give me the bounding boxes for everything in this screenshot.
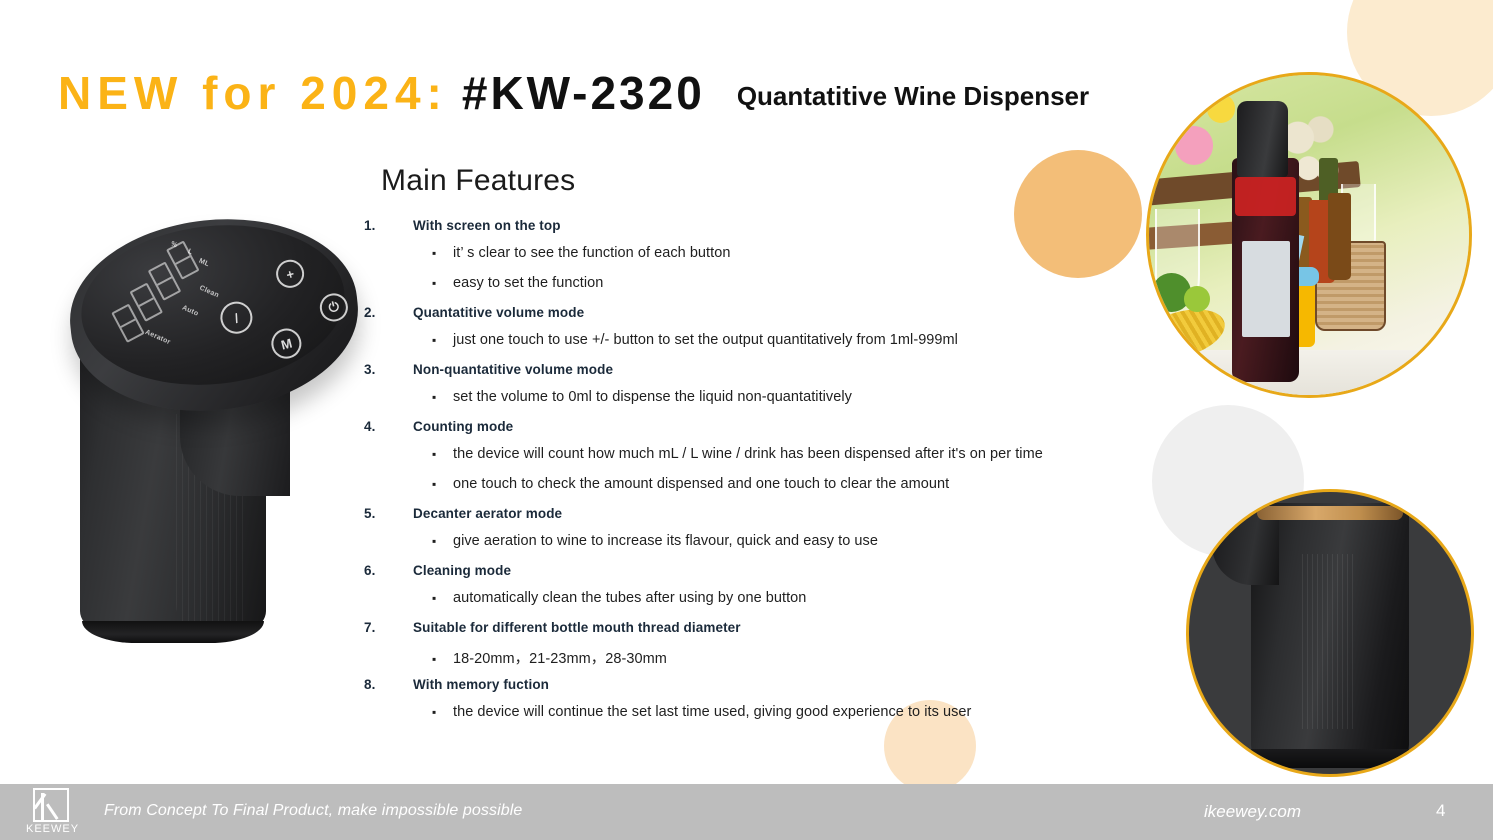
feature-bullet-text: one touch to check the amount dispensed … — [453, 476, 949, 492]
bullet-marker-icon: ▪ — [432, 334, 453, 346]
feature-bullet: ▪the device will count how much mL / L w… — [364, 446, 1164, 476]
feature-item: 6.Cleaning mode▪automatically clean the … — [364, 563, 1164, 620]
footer-tagline: From Concept To Final Product, make impo… — [104, 802, 522, 820]
lifestyle-photo-circle — [1146, 72, 1472, 398]
photo-pink-flower — [1175, 126, 1213, 164]
bullet-marker-icon: ▪ — [432, 247, 453, 259]
feature-item: 7.Suitable for different bottle mouth th… — [364, 620, 1164, 677]
photo-beer-bottle — [1328, 193, 1350, 279]
bullet-marker-icon: ▪ — [432, 391, 453, 403]
footer-page-number: 4 — [1436, 801, 1445, 821]
bullet-marker-icon: ▪ — [432, 592, 453, 604]
feature-number: 2. — [364, 305, 413, 320]
feature-title: With screen on the top — [413, 218, 561, 233]
feature-bullet-text: automatically clean the tubes after usin… — [453, 590, 806, 606]
feature-list: 1.With screen on the top▪it’ s clear to … — [364, 218, 1164, 734]
feature-bullet-text: give aeration to wine to increase its fl… — [453, 533, 878, 549]
feature-bullet-text: just one touch to use +/- button to set … — [453, 332, 958, 348]
photo-table-surface — [1149, 350, 1469, 395]
feature-item: 3.Non-quantatitive volume mode▪set the v… — [364, 362, 1164, 419]
feature-item: 1.With screen on the top▪it’ s clear to … — [364, 218, 1164, 305]
lcd-label-l: L — [187, 248, 194, 256]
bullet-marker-icon: ▪ — [432, 277, 453, 289]
feature-item: 4.Counting mode▪the device will count ho… — [364, 419, 1164, 506]
slide-canvas: NEW for 2024: #KW-2320 Quantatitive Wine… — [0, 0, 1493, 840]
feature-title: Decanter aerator mode — [413, 506, 562, 521]
device-memory-button[interactable]: M — [268, 325, 304, 361]
device-touch-panel: Aerator Auto Clean ML L % + ⏻ / M — [73, 213, 352, 398]
feature-title: Non-quantatitive volume mode — [413, 362, 613, 377]
feature-title: With memory fuction — [413, 677, 549, 692]
headline-model-number: #KW-2320 — [462, 70, 705, 116]
feature-bullet: ▪just one touch to use +/- button to set… — [364, 332, 1164, 362]
hero-product-render: Aerator Auto Clean ML L % + ⏻ / M — [62, 216, 362, 656]
closeup-device-base — [1251, 749, 1409, 769]
feature-bullet: ▪give aeration to wine to increase its f… — [364, 533, 1164, 563]
feature-title: Suitable for different bottle mouth thre… — [413, 620, 741, 635]
feature-number: 4. — [364, 419, 413, 434]
feature-bullet: ▪it’ s clear to see the function of each… — [364, 245, 1164, 275]
headline-new-for-2024: NEW for 2024: — [58, 70, 448, 116]
feature-bullet: ▪18-20mm，21-23mm，28-30mm — [364, 647, 1164, 677]
device-dispense-button[interactable]: / — [217, 298, 256, 337]
feature-bullet: ▪easy to set the function — [364, 275, 1164, 305]
feature-title: Cleaning mode — [413, 563, 511, 578]
k-lower-arm — [46, 803, 59, 820]
feature-bullet-text: 18-20mm，21-23mm，28-30mm — [453, 647, 667, 668]
device-power-button[interactable]: ⏻ — [317, 290, 351, 324]
feature-bullet: ▪automatically clean the tubes after usi… — [364, 590, 1164, 620]
feature-heading: 7.Suitable for different bottle mouth th… — [364, 620, 1164, 647]
feature-number: 6. — [364, 563, 413, 578]
photo-dispenser-on-bottle — [1237, 101, 1288, 178]
footer-website[interactable]: ikeewey.com — [1204, 802, 1301, 822]
bullet-marker-icon: ▪ — [432, 706, 453, 718]
photo-wine-bottle-label — [1242, 241, 1290, 337]
slide-headline: NEW for 2024: #KW-2320 Quantatitive Wine… — [58, 70, 1089, 116]
keewey-k-monogram-icon — [33, 788, 69, 822]
feature-heading: 6.Cleaning mode — [364, 563, 1164, 590]
lcd-label-clean: Clean — [198, 285, 220, 300]
feature-heading: 8.With memory fuction — [364, 677, 1164, 704]
feature-number: 1. — [364, 218, 413, 233]
feature-heading: 5.Decanter aerator mode — [364, 506, 1164, 533]
lcd-label-aerator: Aerator — [144, 329, 172, 346]
lcd-display: Aerator Auto Clean ML L % — [97, 232, 233, 350]
closeup-device-copper-rim — [1257, 506, 1404, 520]
feature-bullet-text: set the volume to 0ml to dispense the li… — [453, 389, 852, 405]
feature-heading: 3.Non-quantatitive volume mode — [364, 362, 1164, 389]
feature-bullet: ▪the device will continue the set last t… — [364, 704, 1164, 734]
bullet-marker-icon: ▪ — [432, 535, 453, 547]
feature-heading: 2.Quantatitive volume mode — [364, 305, 1164, 332]
photo-lime — [1184, 286, 1210, 312]
bullet-marker-icon: ▪ — [432, 478, 453, 490]
feature-item: 5.Decanter aerator mode▪give aeration to… — [364, 506, 1164, 563]
feature-bullet-text: it’ s clear to see the function of each … — [453, 245, 730, 261]
photo-yellow-flower — [1207, 94, 1236, 123]
feature-number: 5. — [364, 506, 413, 521]
keewey-logo: KEEWEY — [26, 788, 76, 838]
bullet-marker-icon: ▪ — [432, 653, 453, 665]
feature-heading: 4.Counting mode — [364, 419, 1164, 446]
feature-title: Quantatitive volume mode — [413, 305, 584, 320]
footer-bar: KEEWEY From Concept To Final Product, ma… — [0, 784, 1493, 840]
feature-bullet-text: the device will continue the set last ti… — [453, 704, 971, 720]
feature-number: 7. — [364, 620, 413, 635]
feature-number: 8. — [364, 677, 413, 692]
closeup-device-ribs — [1302, 554, 1353, 729]
feature-bullet: ▪one touch to check the amount dispensed… — [364, 476, 1164, 506]
device-base — [82, 621, 264, 643]
feature-item: 8.With memory fuction▪the device will co… — [364, 677, 1164, 734]
feature-item: 2.Quantatitive volume mode▪just one touc… — [364, 305, 1164, 362]
feature-bullet: ▪set the volume to 0ml to dispense the l… — [364, 389, 1164, 419]
lcd-label-ml: ML — [198, 258, 211, 269]
bullet-marker-icon: ▪ — [432, 448, 453, 460]
k-upper-arm — [33, 793, 46, 809]
headline-subtitle: Quantatitive Wine Dispenser — [737, 83, 1089, 109]
main-features-heading: Main Features — [381, 164, 575, 198]
product-closeup-circle — [1186, 489, 1474, 777]
lcd-label-auto: Auto — [181, 304, 200, 317]
feature-title: Counting mode — [413, 419, 513, 434]
device-plus-button[interactable]: + — [273, 257, 307, 291]
feature-number: 3. — [364, 362, 413, 377]
photo-wine-bottle-highlight — [1235, 177, 1296, 215]
keewey-logo-text: KEEWEY — [26, 823, 76, 835]
feature-bullet-text: easy to set the function — [453, 275, 603, 291]
feature-bullet-text: the device will count how much mL / L wi… — [453, 446, 1043, 462]
feature-heading: 1.With screen on the top — [364, 218, 1164, 245]
